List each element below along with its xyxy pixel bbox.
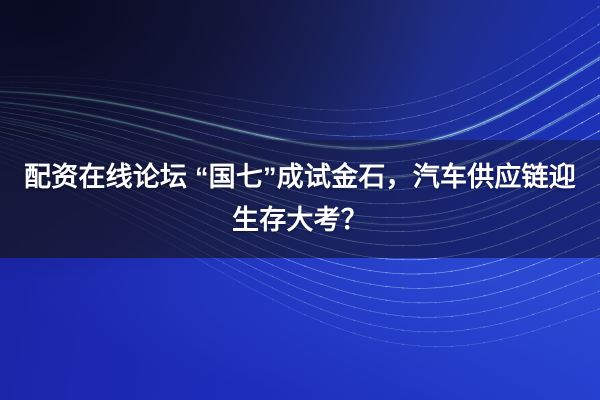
headline-text: 配资在线论坛 “国七”成试金石，汽车供应链迎生存大考？ (0, 156, 600, 242)
banner-graphic: 配资在线论坛 “国七”成试金石，汽车供应链迎生存大考？ (0, 0, 600, 400)
